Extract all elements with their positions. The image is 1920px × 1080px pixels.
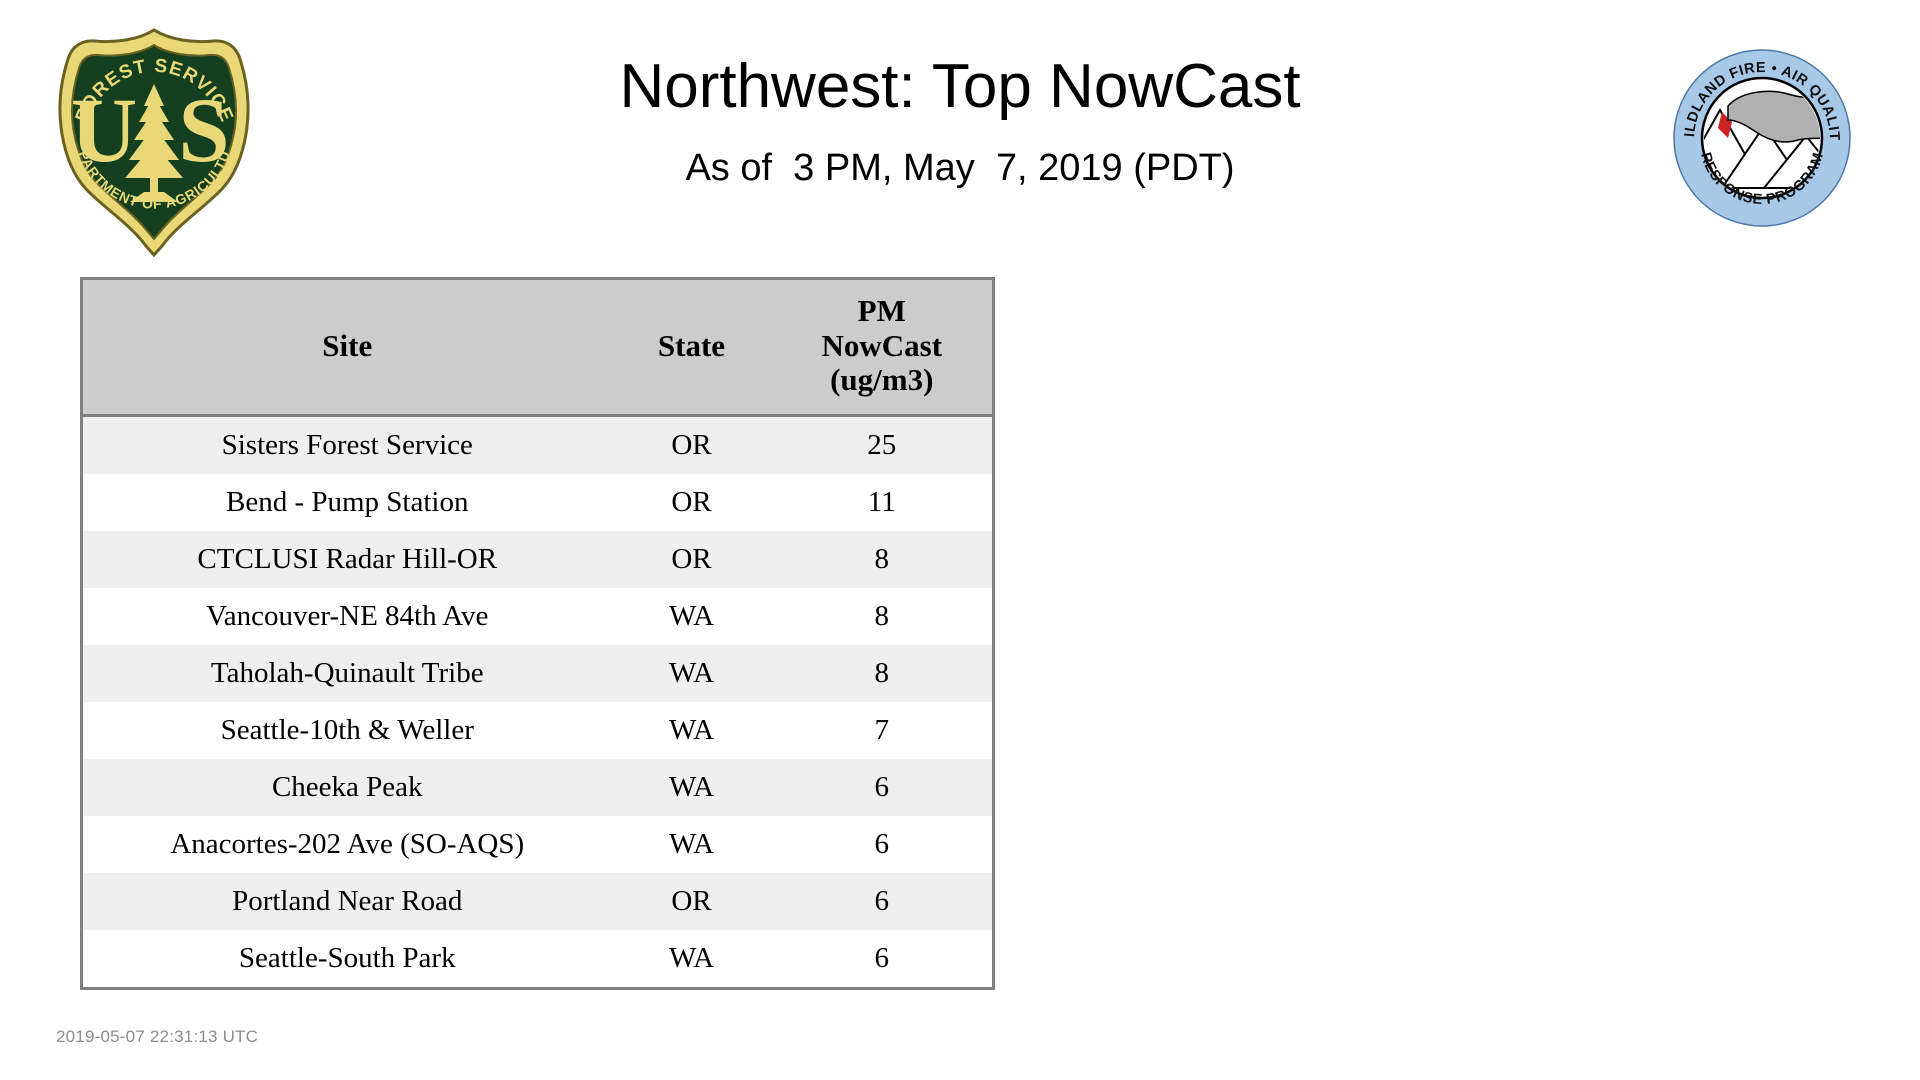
cell-value: 6 — [772, 759, 994, 816]
table-row: Anacortes-202 Ave (SO-AQS) WA 6 — [82, 816, 994, 873]
table-row: Cheeka Peak WA 6 — [82, 759, 994, 816]
cell-site: Sisters Forest Service — [82, 416, 612, 475]
nowcast-table-container: Site State PM NowCast (ug/m3) Sisters Fo… — [80, 277, 992, 990]
column-header-site-label: Site — [89, 329, 606, 364]
cell-value: 6 — [772, 873, 994, 930]
table-row: Seattle-10th & Weller WA 7 — [82, 702, 994, 759]
cell-site: Portland Near Road — [82, 873, 612, 930]
cell-state: OR — [612, 873, 772, 930]
cell-value: 6 — [772, 816, 994, 873]
table-row: Sisters Forest Service OR 25 — [82, 416, 994, 475]
page-title: Northwest: Top NowCast — [0, 0, 1920, 119]
column-header-state-label: State — [618, 329, 766, 364]
column-header-pm-nowcast-line3: (ug/m3) — [778, 363, 987, 398]
nowcast-table: Site State PM NowCast (ug/m3) Sisters Fo… — [80, 277, 995, 990]
column-header-pm-nowcast-line1: PM — [778, 294, 987, 329]
table-row: Vancouver-NE 84th Ave WA 8 — [82, 588, 994, 645]
footer-timestamp: 2019-05-07 22:31:13 UTC — [56, 1027, 258, 1047]
cell-site: Bend - Pump Station — [82, 474, 612, 531]
table-row: CTCLUSI Radar Hill-OR OR 8 — [82, 531, 994, 588]
cell-state: WA — [612, 645, 772, 702]
table-row: Seattle-South Park WA 6 — [82, 930, 994, 989]
table-row: Portland Near Road OR 6 — [82, 873, 994, 930]
cell-site: Cheeka Peak — [82, 759, 612, 816]
cell-value: 25 — [772, 416, 994, 475]
cell-value: 8 — [772, 531, 994, 588]
column-header-state: State — [612, 279, 772, 416]
cell-value: 8 — [772, 588, 994, 645]
cell-state: OR — [612, 531, 772, 588]
cell-site: Taholah-Quinault Tribe — [82, 645, 612, 702]
cell-state: WA — [612, 759, 772, 816]
page-header: FOREST SERVICE U S DEPARTMENT OF AGRICUL… — [0, 0, 1920, 270]
cell-state: OR — [612, 416, 772, 475]
cell-site: Anacortes-202 Ave (SO-AQS) — [82, 816, 612, 873]
column-header-site: Site — [82, 279, 612, 416]
cell-state: OR — [612, 474, 772, 531]
title-block: Northwest: Top NowCast As of 3 PM, May 7… — [0, 0, 1920, 190]
table-body: Sisters Forest Service OR 25 Bend - Pump… — [82, 416, 994, 989]
table-header-row: Site State PM NowCast (ug/m3) — [82, 279, 994, 416]
cell-state: WA — [612, 816, 772, 873]
cell-site: Seattle-10th & Weller — [82, 702, 612, 759]
table-header: Site State PM NowCast (ug/m3) — [82, 279, 994, 416]
cell-value: 11 — [772, 474, 994, 531]
cell-site: CTCLUSI Radar Hill-OR — [82, 531, 612, 588]
cell-state: WA — [612, 930, 772, 989]
wildland-fire-air-quality-logo-icon: WILDLAND FIRE • AIR QUALITY RESPONSE PRO… — [1672, 48, 1852, 228]
cell-value: 8 — [772, 645, 994, 702]
table-row: Taholah-Quinault Tribe WA 8 — [82, 645, 994, 702]
page-subtitle: As of 3 PM, May 7, 2019 (PDT) — [0, 119, 1920, 190]
cell-site: Vancouver-NE 84th Ave — [82, 588, 612, 645]
cell-value: 6 — [772, 930, 994, 989]
column-header-pm-nowcast-line2: NowCast — [778, 329, 987, 364]
cell-state: WA — [612, 588, 772, 645]
cell-value: 7 — [772, 702, 994, 759]
column-header-pm-nowcast: PM NowCast (ug/m3) — [772, 279, 994, 416]
cell-site: Seattle-South Park — [82, 930, 612, 989]
cell-state: WA — [612, 702, 772, 759]
table-row: Bend - Pump Station OR 11 — [82, 474, 994, 531]
